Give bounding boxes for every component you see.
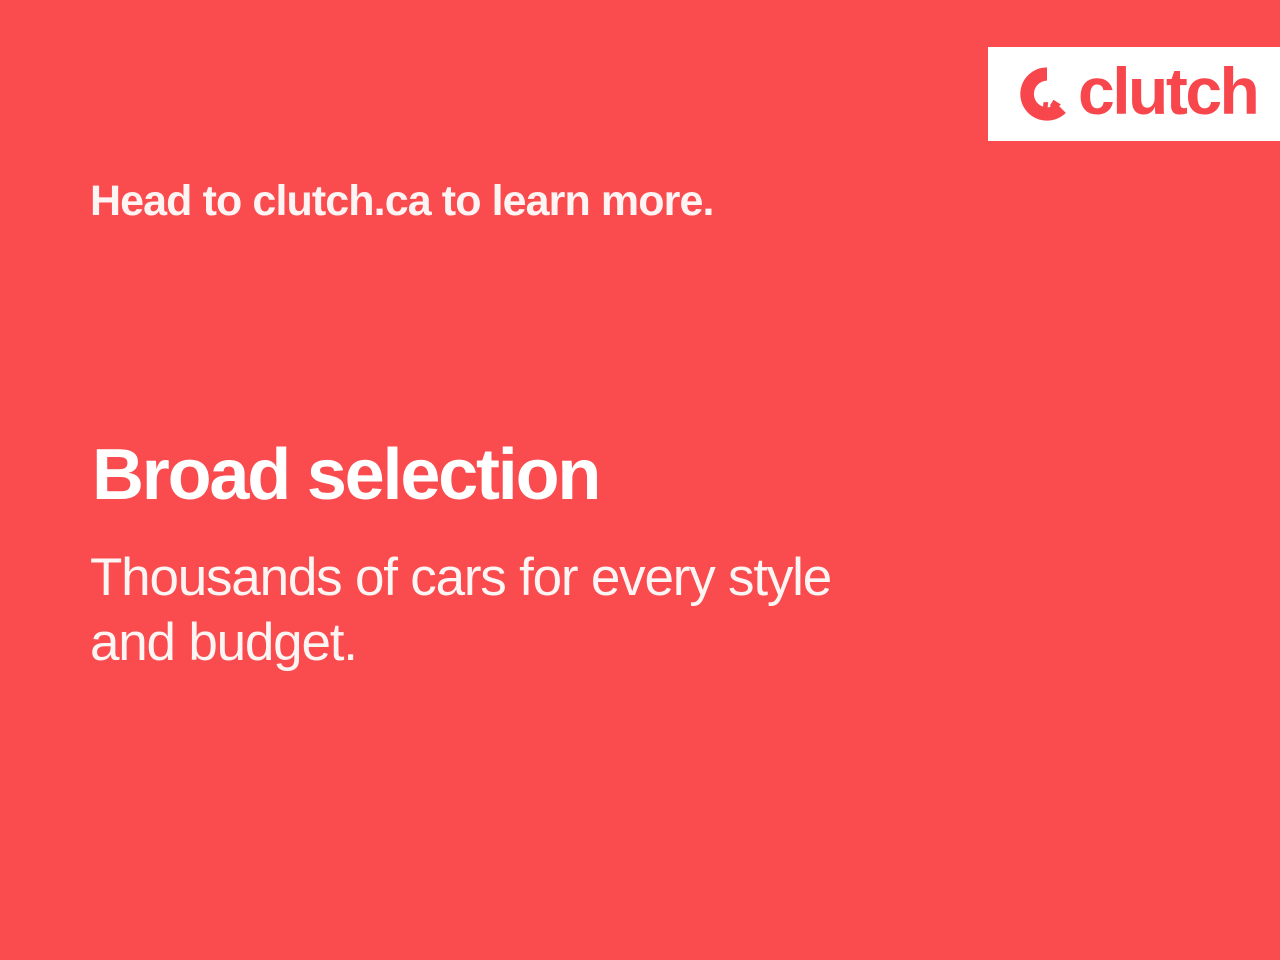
kicker-text: Head to clutch.ca to learn more.: [90, 178, 714, 225]
subhead-line: Thousands of cars for every style: [90, 546, 831, 611]
logo-wordmark: clutch: [1078, 58, 1257, 124]
slide-canvas: clutch Head to clutch.ca to learn more. …: [0, 0, 1280, 960]
logo-lockup: clutch: [1018, 47, 1257, 141]
subhead-line: and budget.: [90, 611, 831, 676]
page-title: Broad selection: [92, 437, 599, 515]
subhead-text: Thousands of cars for every style and bu…: [90, 546, 831, 675]
clutch-logo-badge[interactable]: clutch: [988, 47, 1280, 141]
clutch-steering-wheel-c-icon: [1018, 65, 1076, 123]
